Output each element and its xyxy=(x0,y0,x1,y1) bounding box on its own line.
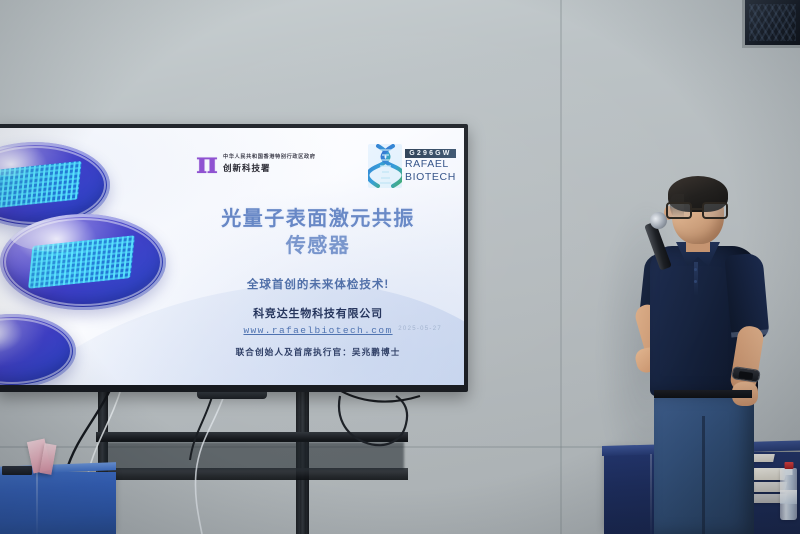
itc-government-line: 中华人民共和国香港特别行政区政府 xyxy=(223,153,316,160)
slide-header: π 中华人民共和国香港特别行政区政府 创新科技署 xyxy=(0,146,464,192)
presenter-jeans-seam xyxy=(702,416,705,534)
tablecloth-fold xyxy=(36,472,38,534)
slide-title-line1: 光量子表面激元共振 xyxy=(221,208,415,230)
itc-logo-text: 中华人民共和国香港特别行政区政府 创新科技署 xyxy=(223,153,316,174)
slide-title-line2: 传感器 xyxy=(188,233,448,260)
glasses-left-lens xyxy=(666,202,692,219)
ceiling-speaker-icon xyxy=(742,0,800,48)
wall-seam xyxy=(560,0,562,534)
presentation-slide: π 中华人民共和国香港特别行政区政府 创新科技署 xyxy=(0,128,464,385)
slide-presenter-credit: 联合创始人及首席执行官：吴兆鹏博士 xyxy=(188,346,448,358)
rafael-logo-text: G296GW RAFAEL BIOTECH xyxy=(405,149,456,183)
glasses-right-lens xyxy=(702,202,728,219)
rafael-name-line1: RAFAEL xyxy=(405,158,456,170)
television: π 中华人民共和国香港特别行政区政府 创新科技署 xyxy=(0,124,468,392)
rafael-name-line2: BIOTECH xyxy=(405,171,456,183)
eyeglasses-icon xyxy=(664,202,730,219)
slide-company-name: 科竞达生物科技有限公司 xyxy=(188,305,448,321)
pi-icon: π xyxy=(196,150,217,177)
tv-mount-foot xyxy=(197,392,267,399)
petri-dish xyxy=(0,214,166,310)
petri-dish xyxy=(0,314,76,385)
rafael-biotech-logo: G296GW RAFAEL BIOTECH xyxy=(368,144,456,188)
laptop-device xyxy=(2,466,32,475)
presentation-room-scene: π 中华人民共和国香港特别行政区政府 创新科技署 xyxy=(0,0,800,534)
dish-gloss xyxy=(10,220,110,253)
itc-department-name: 创新科技署 xyxy=(223,162,316,174)
glasses-bridge xyxy=(692,208,702,210)
rafael-code-badge: G296GW xyxy=(405,149,456,158)
polo-button xyxy=(694,280,697,283)
presenter-person xyxy=(628,176,788,534)
itc-logo: π 中华人民共和国香港特别行政区政府 创新科技署 xyxy=(196,150,316,177)
tv-screen: π 中华人民共和国香港特别行政区政府 创新科技署 xyxy=(0,128,464,385)
polo-button xyxy=(694,268,697,271)
slide-body: 光量子表面激元共振 传感器 全球首创的未来体检技术! 科竞达生物科技有限公司 w… xyxy=(188,206,448,358)
presenter-belt xyxy=(654,390,752,398)
slide-date: 2025-05-27 xyxy=(398,326,442,332)
left-table xyxy=(0,472,116,534)
slide-title: 光量子表面激元共振 传感器 xyxy=(188,206,448,260)
slide-subtitle: 全球首创的未来体检技术! xyxy=(188,276,448,292)
dna-helix-icon xyxy=(368,144,402,188)
